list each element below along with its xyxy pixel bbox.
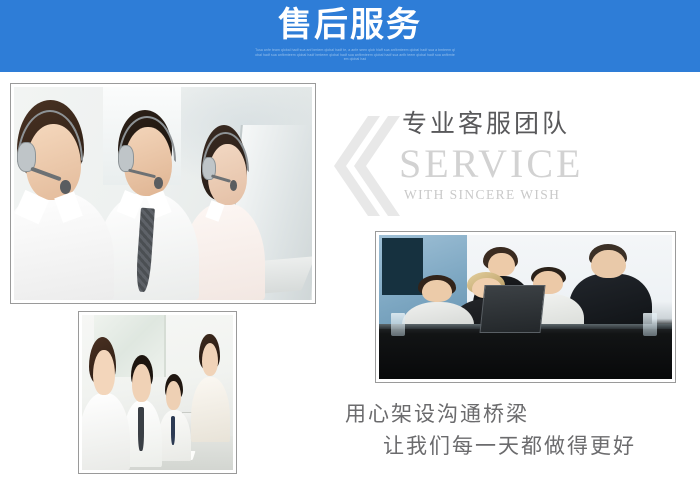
slogan-line-2: 让我们每一天都做得更好: [383, 430, 685, 462]
service-tagline-en: WITH SINCERE WISH: [404, 186, 692, 204]
decor-water-glass-right: [643, 313, 658, 336]
decor-boardroom-laptop: [479, 285, 545, 333]
decor-exec-standing: [572, 244, 648, 333]
decor-exec-left-head: [422, 280, 452, 302]
decor-person-seated-front: [82, 337, 127, 470]
decor-agent-3-mic: [230, 180, 237, 191]
decor-exec-standing-head: [591, 250, 626, 279]
decor-person-seated-far: [158, 374, 191, 461]
slogan-line-1: 用心架设沟通桥梁: [345, 398, 685, 430]
page-root: 售后服务 Tusa anfe team qlobal hadf sua anf …: [0, 0, 700, 494]
double-chevron-left-icon: [334, 116, 400, 216]
decor-person-standing-body: [191, 377, 230, 442]
service-heading-block: 专业客服团队 SERVICE WITH SINCERE WISH: [402, 108, 692, 204]
decor-person-standing-head: [202, 343, 218, 376]
photo-boardroom: [375, 231, 676, 383]
service-heading-cn: 专业客服团队: [402, 108, 692, 140]
decor-person-seated-mid-head: [132, 364, 151, 402]
photo-meeting-bright: [78, 311, 237, 474]
service-heading-en: SERVICE: [399, 142, 692, 186]
photo-callcenter: [10, 83, 316, 304]
decor-person-standing: [191, 334, 230, 443]
decor-person-seated-front-head: [93, 350, 115, 395]
photo-callcenter-image: [14, 87, 312, 300]
decor-person-seated-far-head: [166, 381, 181, 411]
photo-boardroom-image: [379, 235, 672, 379]
decor-person-seated-front-body: [82, 393, 130, 470]
banner-subtitle-text: Tusa anfe team qlobal hadf sua anf bmtem…: [255, 48, 455, 62]
page-title: 售后服务: [0, 4, 700, 46]
decor-person-seated-mid-tie: [138, 407, 143, 452]
header-banner: 售后服务 Tusa anfe team qlobal hadf sua anf …: [0, 0, 700, 72]
photo-meeting-bright-image: [82, 315, 233, 470]
decor-water-glass-left: [391, 313, 406, 336]
slogan-block: 用心架设沟通桥梁 让我们每一天都做得更好: [345, 398, 685, 462]
decor-agent-2-earcup: [118, 145, 134, 172]
decor-agent-1: [14, 100, 109, 300]
